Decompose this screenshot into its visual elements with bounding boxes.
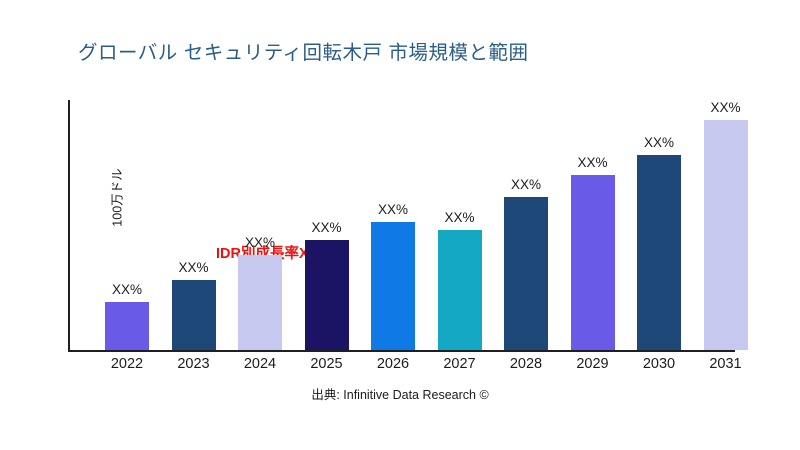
bar[interactable] [105,302,149,350]
plot-area: 100万ドル IDR別成長率XX% XX%XX%XX%XX%XX%XX%XX%X… [68,100,735,350]
bar[interactable] [172,280,216,350]
bar-value-label: XX% [91,282,163,297]
bar-value-label: XX% [490,177,562,192]
bar-value-label: XX% [291,220,363,235]
bar-value-label: XX% [158,260,230,275]
x-tick-label-2031: 2031 [690,356,762,372]
source-note: 出典: Infinitive Data Research © [0,384,800,403]
x-tick-label-2027: 2027 [424,356,496,372]
bar[interactable] [704,120,748,350]
bar[interactable] [371,222,415,350]
x-axis-line [68,350,735,352]
bar[interactable] [305,240,349,350]
bar[interactable] [571,175,615,350]
chart-page: グローバル セキュリティ回転木戸 市場規模と範囲 100万ドル IDR別成長率X… [0,0,800,450]
bar[interactable] [637,155,681,350]
x-tick-label-2030: 2030 [623,356,695,372]
page-title: グローバル セキュリティ回転木戸 市場規模と範囲 [78,36,738,65]
x-tick-label-2026: 2026 [357,356,429,372]
x-tick-label-2023: 2023 [158,356,230,372]
x-tick-label-2028: 2028 [490,356,562,372]
x-tick-label-2024: 2024 [224,356,296,372]
y-axis-title: 100万ドル [107,128,126,268]
bar[interactable] [438,230,482,350]
bar[interactable] [238,255,282,350]
bar-value-label: XX% [690,100,762,115]
bar-value-label: XX% [557,155,629,170]
bar-value-label: XX% [357,202,429,217]
x-tick-label-2025: 2025 [291,356,363,372]
bar-value-label: XX% [623,135,695,150]
bar-value-label: XX% [224,235,296,250]
bar[interactable] [504,197,548,350]
x-tick-label-2022: 2022 [91,356,163,372]
bar-value-label: XX% [424,210,496,225]
x-tick-label-2029: 2029 [557,356,629,372]
y-axis-line [68,100,70,350]
